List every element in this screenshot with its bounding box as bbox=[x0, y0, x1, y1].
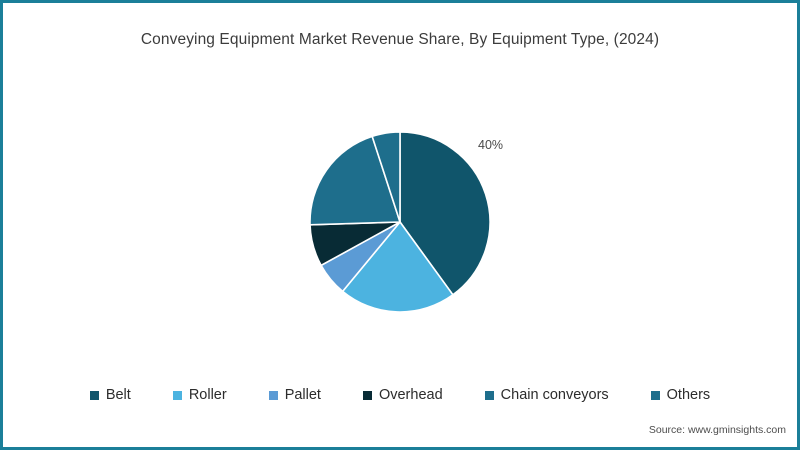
source-note: Source: www.gminsights.com bbox=[649, 424, 786, 436]
card-border-left bbox=[0, 0, 3, 450]
pie-chart bbox=[310, 132, 490, 312]
legend-item-label: Roller bbox=[189, 387, 227, 403]
chart-card: Conveying Equipment Market Revenue Share… bbox=[0, 0, 800, 450]
legend-item-label: Overhead bbox=[379, 387, 443, 403]
legend-item-label: Belt bbox=[106, 387, 131, 403]
chart-title: Conveying Equipment Market Revenue Share… bbox=[0, 31, 800, 49]
legend-item-pallet[interactable]: Pallet bbox=[269, 387, 321, 403]
legend-swatch-icon bbox=[173, 391, 182, 400]
pie-data-label-belt: 40% bbox=[478, 138, 503, 152]
legend-swatch-icon bbox=[651, 391, 660, 400]
legend-item-chain-conveyors[interactable]: Chain conveyors bbox=[485, 387, 609, 403]
pie-slice-group bbox=[310, 132, 490, 312]
chart-legend: BeltRollerPalletOverheadChain conveyorsO… bbox=[0, 387, 800, 403]
legend-swatch-icon bbox=[269, 391, 278, 400]
card-border-top bbox=[0, 0, 800, 3]
legend-item-roller[interactable]: Roller bbox=[173, 387, 227, 403]
legend-swatch-icon bbox=[485, 391, 494, 400]
legend-item-label: Chain conveyors bbox=[501, 387, 609, 403]
legend-item-label: Others bbox=[667, 387, 711, 403]
legend-swatch-icon bbox=[363, 391, 372, 400]
legend-swatch-icon bbox=[90, 391, 99, 400]
legend-item-overhead[interactable]: Overhead bbox=[363, 387, 443, 403]
legend-item-belt[interactable]: Belt bbox=[90, 387, 131, 403]
pie-chart-svg bbox=[310, 132, 490, 312]
legend-item-label: Pallet bbox=[285, 387, 321, 403]
legend-item-others[interactable]: Others bbox=[651, 387, 711, 403]
